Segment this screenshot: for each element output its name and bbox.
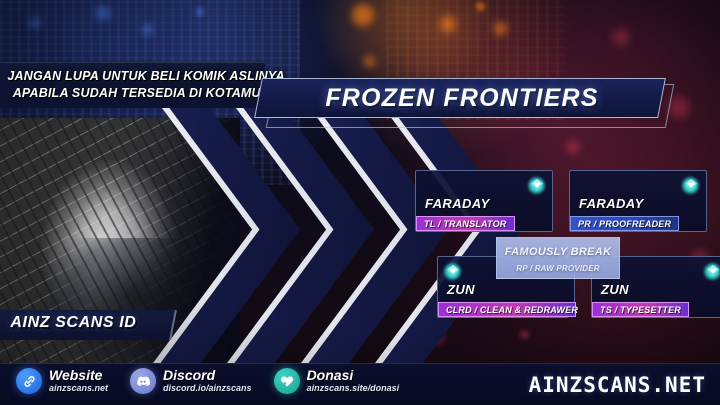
gem-heart-icon <box>681 176 700 195</box>
notice-line-1: JANGAN LUPA UNTUK BELI KOMIK ASLINYA <box>7 68 251 85</box>
page-title: FROZEN FRONTIERS <box>252 78 672 118</box>
credit-role-badge: PR / PROOFREADER <box>570 216 679 231</box>
raw-provider-overlay: FAMOUSLY BREAK RP / RAW PROVIDER <box>496 237 620 279</box>
footer-link-discord[interactable]: Discord discord.io/ainzscans <box>130 368 252 394</box>
footer-link-title: Discord <box>163 368 252 383</box>
site-url: AINZSCANS.NET <box>529 373 706 397</box>
footer-link-title: Donasi <box>307 368 400 383</box>
footer-links: Website ainzscans.net Discord discord.io… <box>16 368 399 394</box>
overlay-name: FAMOUSLY BREAK <box>497 246 619 258</box>
footer-bar: Website ainzscans.net Discord discord.io… <box>0 363 720 405</box>
credit-name: ZUN <box>447 282 475 297</box>
footer-link-subtitle: ainzscans.net <box>49 383 108 394</box>
credit-role-badge: TS / TYPESETTER <box>592 302 689 317</box>
credit-name: FARADAY <box>425 196 490 211</box>
footer-link-subtitle: ainzscans.site/donasi <box>307 383 400 394</box>
gem-heart-icon <box>443 262 462 281</box>
scanlation-group-logo: AINZ SCANS ID <box>0 310 177 340</box>
credit-name: FARADAY <box>579 196 644 211</box>
gem-heart-icon <box>703 262 720 281</box>
scanlation-credits-page: JANGAN LUPA UNTUK BELI KOMIK ASLINYA APA… <box>0 0 720 405</box>
credit-role-badge: CLRD / CLEAN & REDRAWER <box>438 302 576 317</box>
footer-link-subtitle: discord.io/ainzscans <box>163 383 252 394</box>
footer-link-title: Website <box>49 368 108 383</box>
discord-icon <box>130 368 156 394</box>
footer-link-donasi[interactable]: Donasi ainzscans.site/donasi <box>274 368 400 394</box>
credit-card: FARADAY TL / TRANSLATOR <box>415 170 553 232</box>
buy-original-notice: JANGAN LUPA UNTUK BELI KOMIK ASLINYA APA… <box>0 62 266 108</box>
credit-name: ZUN <box>601 282 629 297</box>
link-icon <box>16 368 42 394</box>
notice-line-2: APABILA SUDAH TERSEDIA DI KOTAMU! <box>5 85 249 102</box>
heart-hand-icon <box>274 368 300 394</box>
overlay-role: RP / RAW PROVIDER <box>497 264 619 273</box>
gem-heart-icon <box>527 176 546 195</box>
logo-text: AINZ SCANS ID <box>10 314 136 332</box>
footer-link-website[interactable]: Website ainzscans.net <box>16 368 108 394</box>
credit-card: FARADAY PR / PROOFREADER <box>569 170 707 232</box>
series-title-banner: FROZEN FRONTIERS <box>252 78 672 126</box>
credit-role-badge: TL / TRANSLATOR <box>416 216 515 231</box>
